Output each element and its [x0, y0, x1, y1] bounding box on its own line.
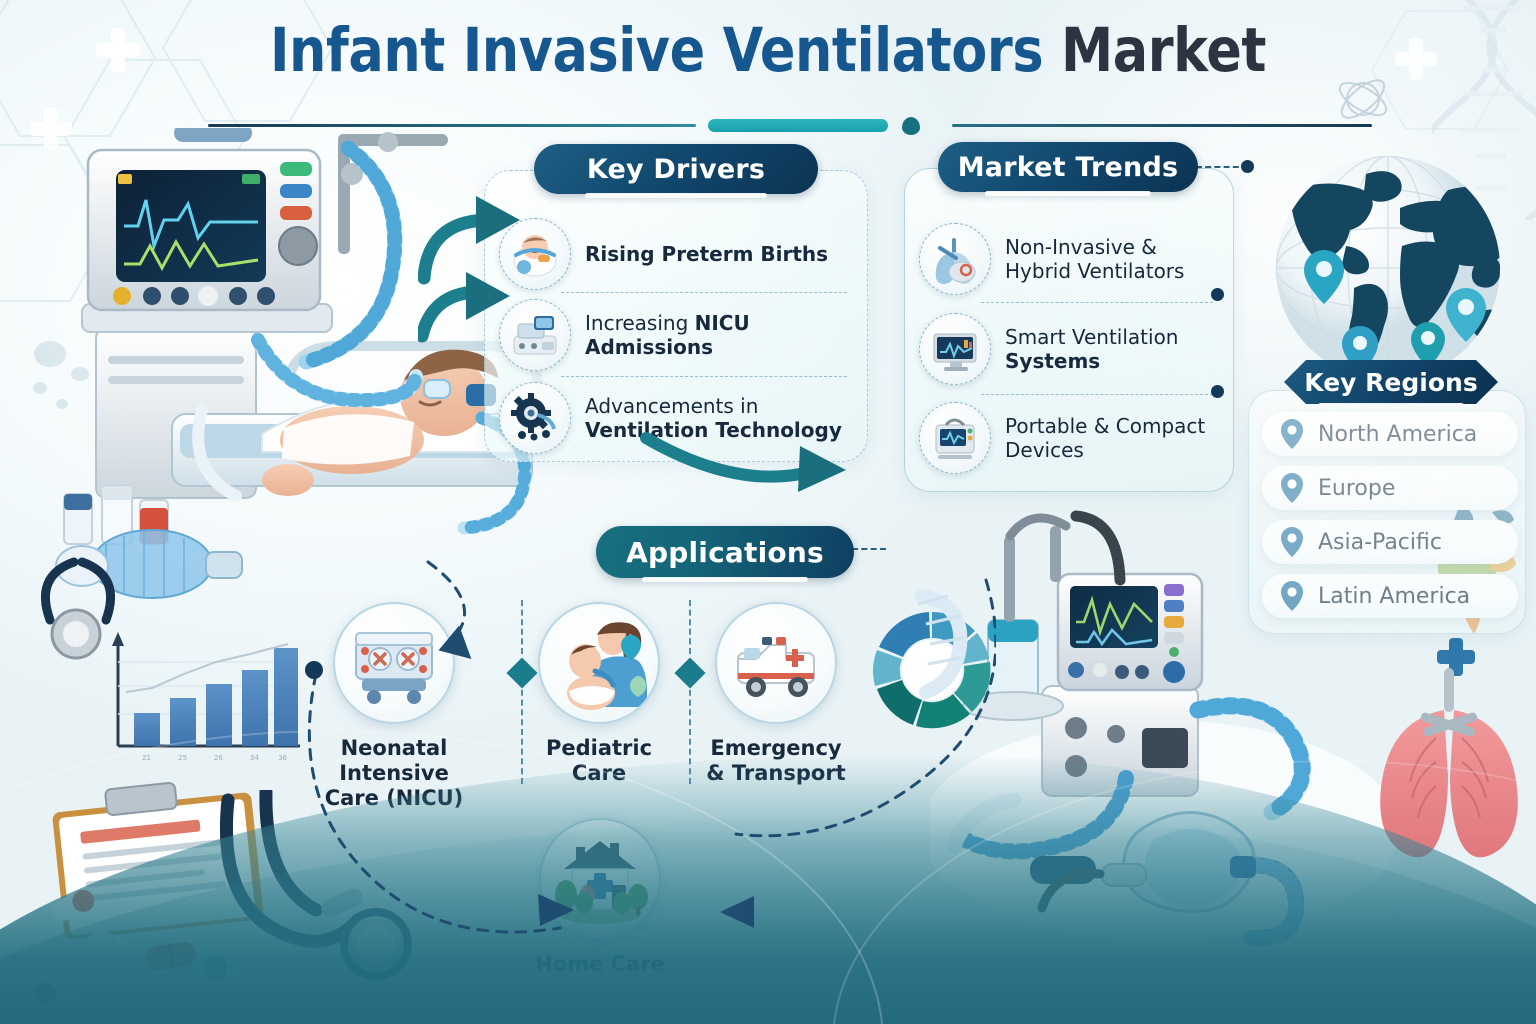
key-drivers-label-0: Rising Preterm Births [585, 242, 828, 266]
portable-device-icon [919, 402, 991, 474]
flow-dash [521, 680, 523, 784]
key-regions-panel [1248, 390, 1526, 634]
page-title: Infant Invasive Ventilators Market [0, 20, 1536, 81]
flow-dash [689, 680, 691, 784]
connector-dot [1211, 385, 1224, 398]
key-drivers-label-1: Increasing NICU Admissions [585, 311, 853, 360]
lungs-mask-icon [919, 223, 991, 295]
market-trends-label-0: Non-Invasive & Hybrid Ventilators [1005, 235, 1219, 284]
market-trends-item-2: Portable & Compact Devices [919, 395, 1219, 481]
flow-dash [689, 600, 691, 654]
infographic-canvas: Infant Invasive Ventilators Market [0, 0, 1536, 1024]
connector-line [852, 548, 886, 550]
applications-flow-lines [296, 556, 996, 976]
divider-accent-bar [708, 119, 888, 132]
gear-technology-icon [499, 382, 571, 454]
market-trends-item-1: Smart Ventilation Systems [919, 303, 1219, 395]
market-trends-panel: Non-Invasive & Hybrid Ventilators Smart … [904, 168, 1234, 492]
monitor-waveform-icon [919, 313, 991, 385]
market-trends-item-0: Non-Invasive & Hybrid Ventilators [919, 215, 1219, 303]
title-part-3: Market [1061, 15, 1266, 86]
connector-dot [1211, 288, 1224, 301]
divider-diamond [902, 117, 920, 135]
market-trends-label-1: Smart Ventilation Systems [1005, 325, 1219, 374]
applications-heading-label: Applications [626, 536, 824, 569]
connector-dot [1241, 160, 1254, 173]
market-trends-heading: Market Trends [938, 142, 1198, 192]
flow-dash [521, 600, 523, 654]
market-trends-label-2: Portable & Compact Devices [1005, 414, 1219, 463]
title-part-1: Infant Invasive [270, 15, 723, 86]
key-drivers-heading-label: Key Drivers [587, 154, 765, 185]
key-regions-heading-label: Key Regions [1304, 368, 1477, 397]
flow-arrow-icon [640, 430, 860, 510]
key-drivers-item-1: Increasing NICU Admissions [499, 293, 853, 377]
key-drivers-item-0: Rising Preterm Births [499, 215, 853, 293]
title-part-2: Ventilators [723, 15, 1061, 86]
key-regions-heading: Key Regions [1284, 360, 1498, 404]
key-drivers-heading: Key Drivers [534, 144, 818, 194]
market-trends-heading-label: Market Trends [958, 152, 1179, 183]
world-globe-icon [1250, 150, 1526, 390]
flow-arrow-icon [418, 186, 548, 346]
applications-heading: Applications [596, 526, 854, 578]
